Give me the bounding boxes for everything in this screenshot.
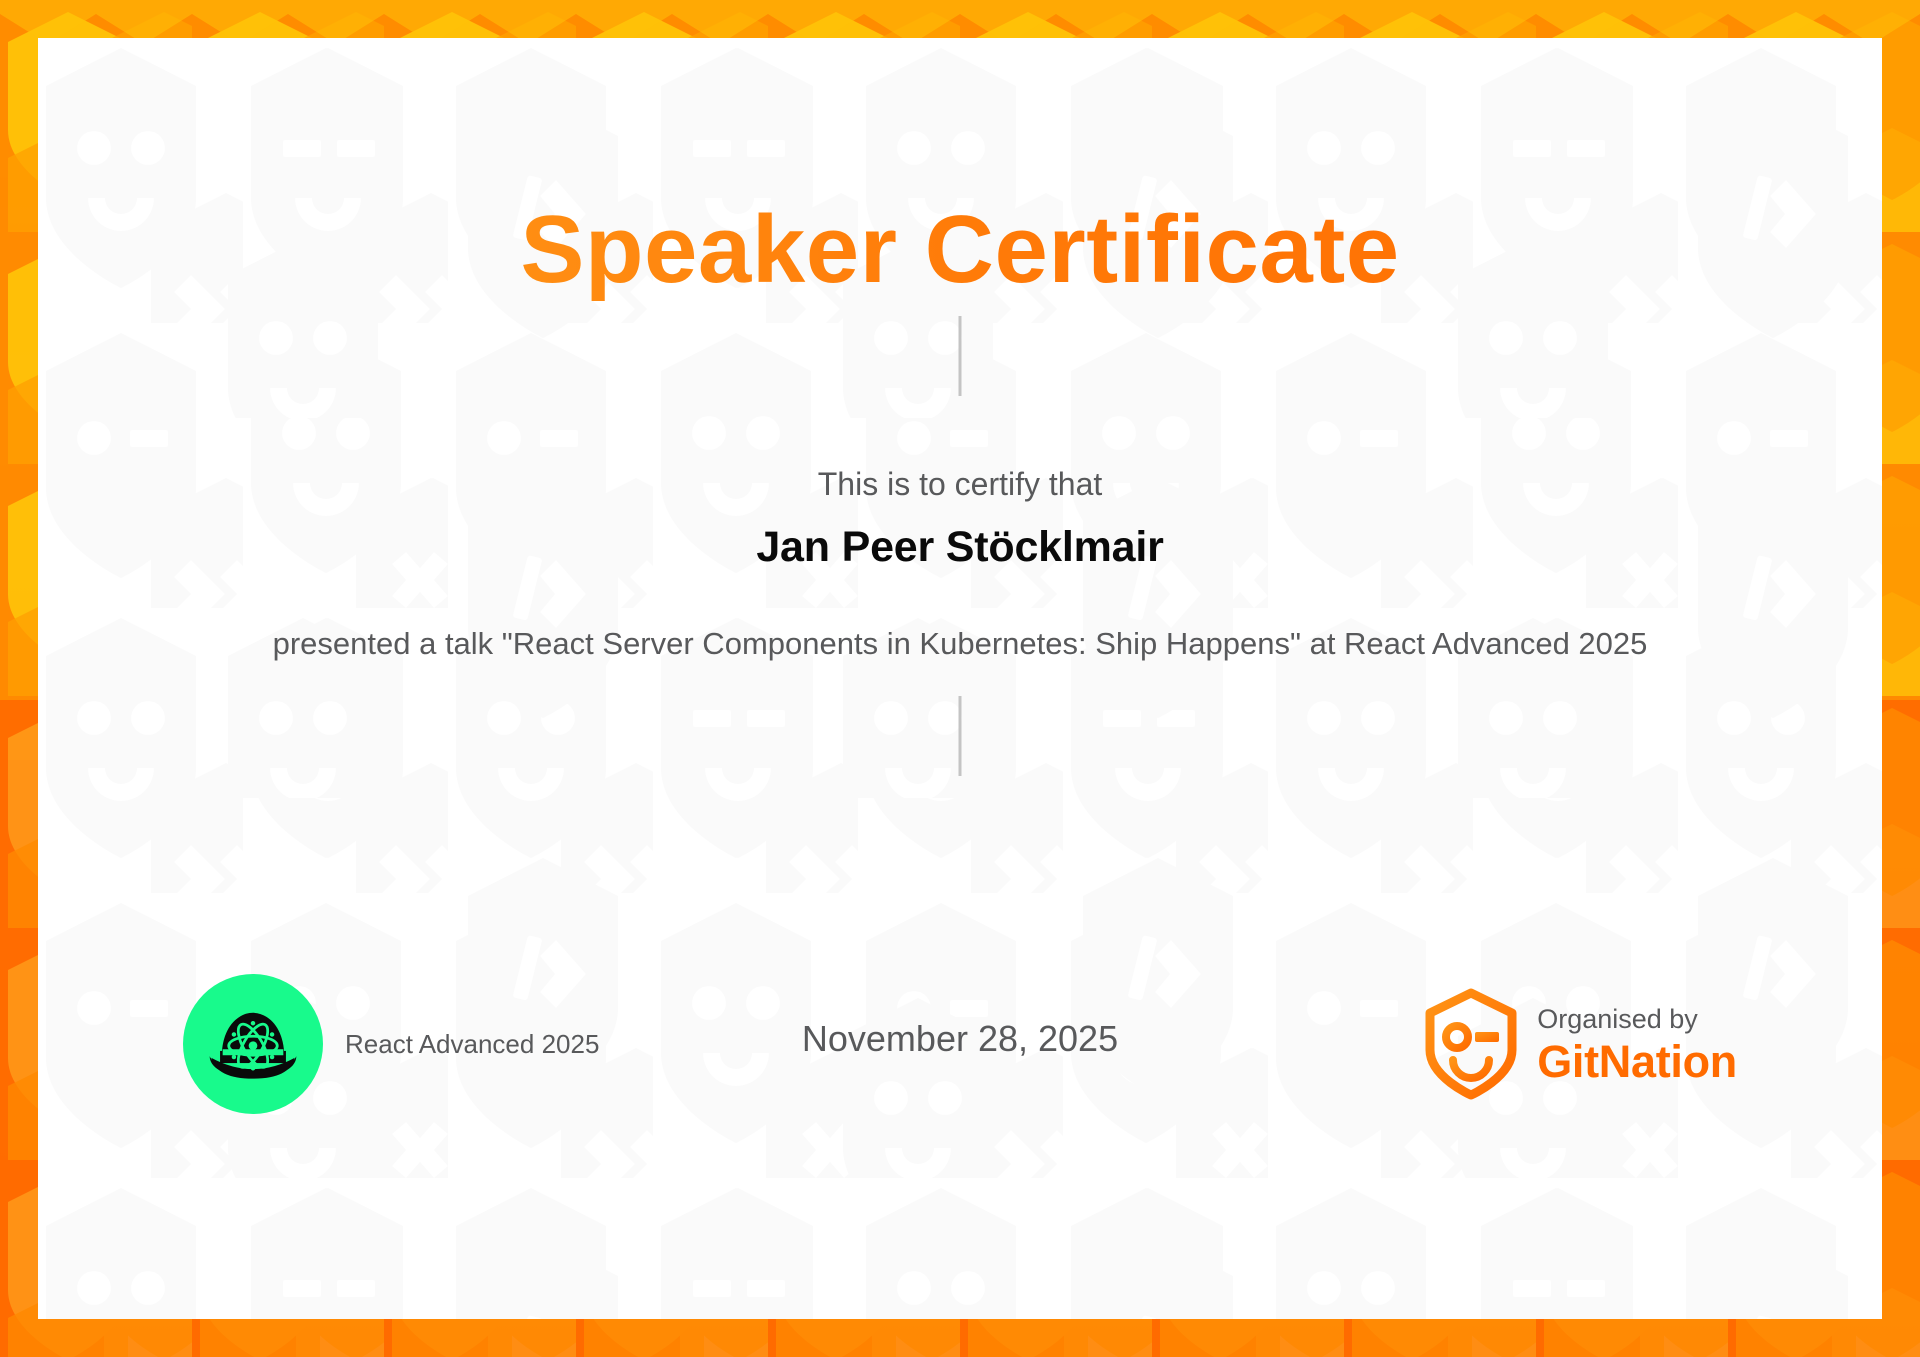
- organiser-group: Organised by GitNation: [1423, 988, 1737, 1100]
- divider-bottom: [959, 696, 962, 776]
- organiser-prefix: Organised by: [1537, 1002, 1737, 1037]
- page-title: Speaker Certificate: [38, 200, 1882, 301]
- certify-line: This is to certify that: [38, 466, 1882, 503]
- certificate-card: Speaker Certificate This is to certify t…: [38, 38, 1882, 1319]
- gitnation-shield-face-icon: [1423, 988, 1519, 1100]
- organiser-brand: GitNation: [1537, 1037, 1737, 1087]
- certificate-footer: React Advanced 2025 November 28, 2025: [38, 974, 1882, 1114]
- recipient-name: Jan Peer Stöcklmair: [38, 523, 1882, 572]
- talk-description: presented a talk "React Server Component…: [250, 623, 1670, 665]
- speaker-certificate: Speaker Certificate This is to certify t…: [0, 0, 1920, 1357]
- divider-top: [959, 316, 962, 396]
